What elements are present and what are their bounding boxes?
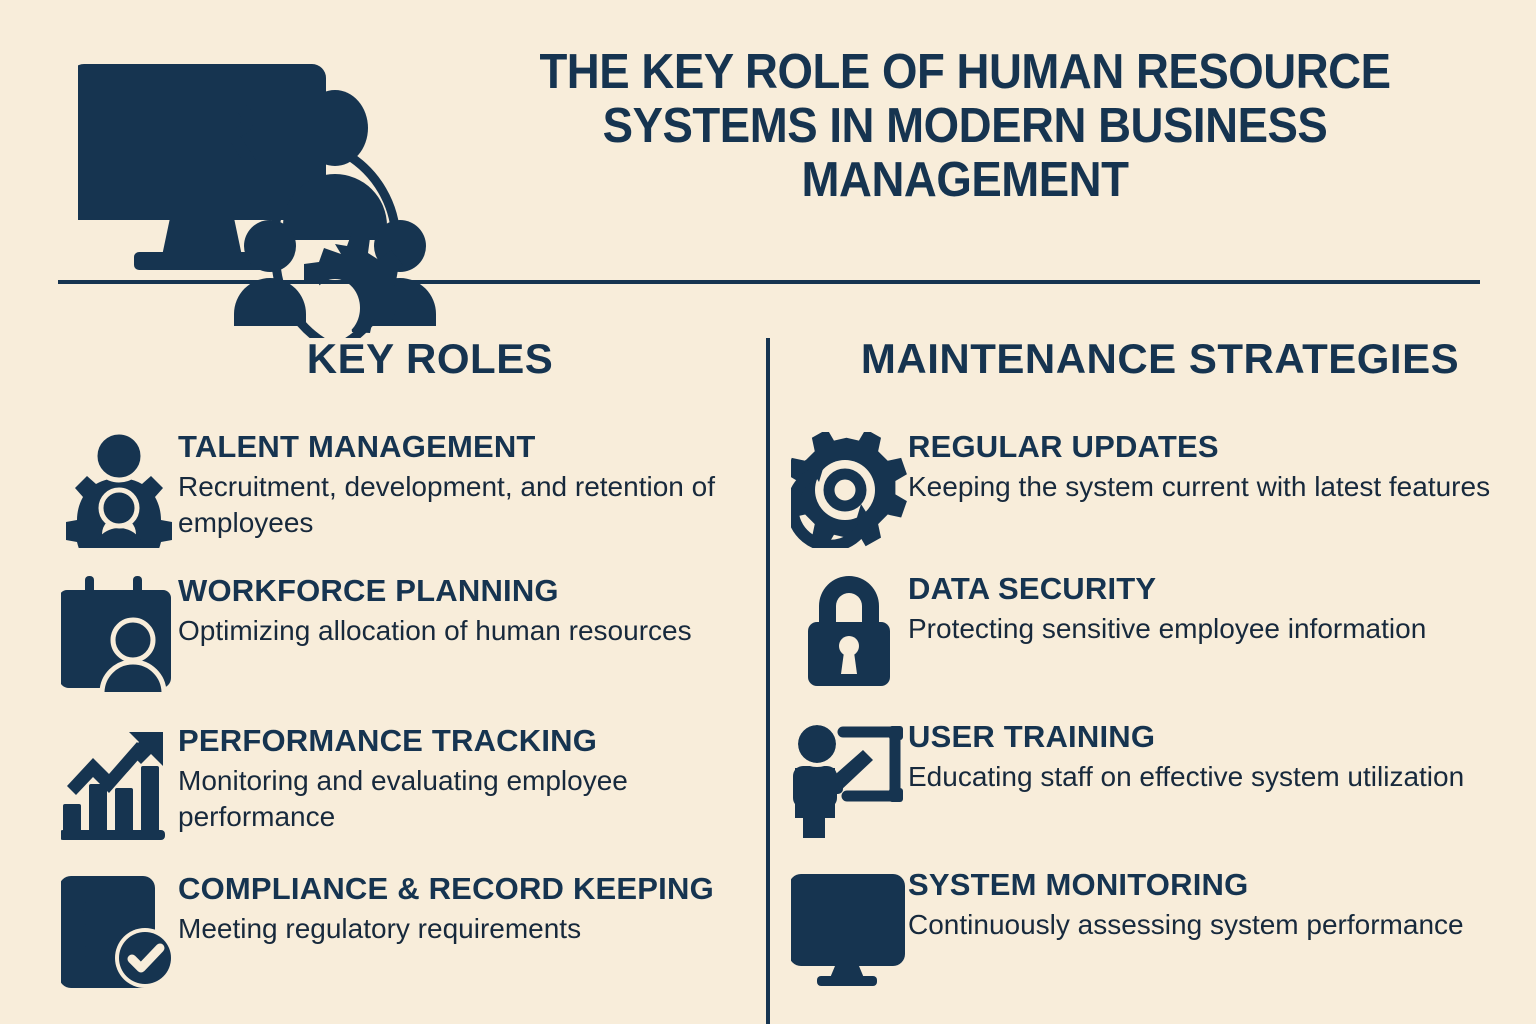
list-item-title: COMPLIANCE & RECORD KEEPING [178,872,760,907]
lock-icon [790,570,908,688]
calendar-person-icon [60,572,178,690]
presenter-board-icon [790,718,908,836]
list-item: USER TRAINING Educating staff on effecti… [790,718,1520,836]
list-item-description: Continuously assessing system performanc… [908,907,1520,943]
hr-systems-logo: HR [78,58,518,338]
list-item: SYSTEM MONITORING Continuously assessing… [790,866,1520,984]
list-item-title: REGULAR UPDATES [908,430,1520,465]
key-roles-column: KEY ROLES [60,338,760,1016]
list-item-title: WORKFORCE PLANNING [178,574,760,609]
list-item-title: TALENT MANAGEMENT [178,430,760,465]
hr-logo-text: HR [134,84,258,180]
column-divider [766,338,770,1024]
list-item-title: PERFORMANCE TRACKING [178,724,760,759]
gear-refresh-icon [790,428,908,546]
list-item: REGULAR UPDATES Keeping the system curre… [790,428,1520,546]
maintenance-strategies-column: MAINTENANCE STRATEGIES [790,338,1520,1012]
list-item-description: Meeting regulatory requirements [178,911,760,947]
key-roles-heading: KEY ROLES [60,338,760,380]
list-item-description: Recruitment, development, and retention … [178,469,760,542]
list-item-text: COMPLIANCE & RECORD KEEPING Meeting regu… [178,870,760,947]
list-item-text: DATA SECURITY Protecting sensitive emplo… [908,570,1520,647]
list-item-title: USER TRAINING [908,720,1520,755]
list-item: WORKFORCE PLANNING Optimizing allocation… [60,572,760,690]
list-item-title: DATA SECURITY [908,572,1520,607]
infographic-canvas: HR [0,0,1536,1024]
list-item-title: SYSTEM MONITORING [908,868,1520,903]
list-item-text: SYSTEM MONITORING Continuously assessing… [908,866,1520,943]
monitor-chart-icon [790,866,908,984]
list-item-text: PERFORMANCE TRACKING Monitoring and eval… [178,722,760,836]
maintenance-strategies-heading: MAINTENANCE STRATEGIES [790,338,1520,380]
list-item-text: REGULAR UPDATES Keeping the system curre… [908,428,1520,505]
maintenance-strategies-list: REGULAR UPDATES Keeping the system curre… [790,428,1520,984]
header: HR [0,0,1536,284]
list-item-text: TALENT MANAGEMENT Recruitment, developme… [178,428,760,542]
list-item-description: Keeping the system current with latest f… [908,469,1520,505]
header-divider-rule [58,280,1480,284]
list-item-description: Optimizing allocation of human resources [178,613,760,649]
list-item-description: Monitoring and evaluating employee perfo… [178,763,760,836]
list-item: PERFORMANCE TRACKING Monitoring and eval… [60,722,760,840]
document-check-icon [60,870,178,988]
person-gear-icon [60,428,178,546]
page-title-line-1: THE KEY ROLE OF HUMAN RESOURCE [458,46,1472,100]
list-item-description: Educating staff on effective system util… [908,759,1520,795]
list-item: TALENT MANAGEMENT Recruitment, developme… [60,428,760,546]
page-title-line-2: SYSTEMS IN MODERN BUSINESS [458,100,1472,154]
list-item: DATA SECURITY Protecting sensitive emplo… [790,570,1520,688]
list-item: COMPLIANCE & RECORD KEEPING Meeting regu… [60,870,760,988]
page-title-line-3: MANAGEMENT [458,154,1472,208]
list-item-description: Protecting sensitive employee informatio… [908,611,1520,647]
list-item-text: WORKFORCE PLANNING Optimizing allocation… [178,572,760,649]
page-title: THE KEY ROLE OF HUMAN RESOURCE SYSTEMS I… [458,46,1472,208]
list-item-text: USER TRAINING Educating staff on effecti… [908,718,1520,795]
key-roles-list: TALENT MANAGEMENT Recruitment, developme… [60,428,760,988]
bar-chart-arrow-up-icon [60,722,178,840]
